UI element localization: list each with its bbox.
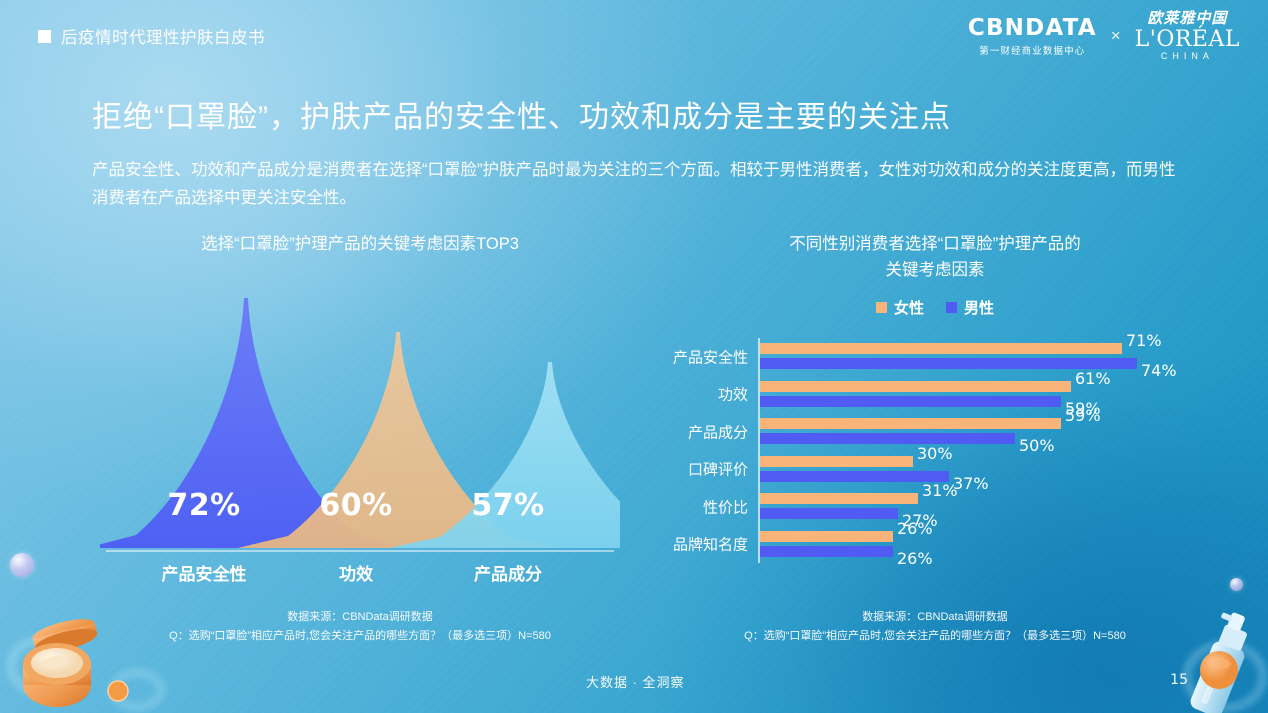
cbndata-wordmark: CBNDATA [968,15,1097,41]
horizontal-bar-chart: 产品安全性 71% 74% 功效 61% 59% 产品成分 59% 50% [655,338,1215,563]
bar-male-5: 26% [760,546,893,557]
left-chart-title: 选择“口罩脸”护理产品的关键考虑因素TOP3 [70,232,650,258]
bar-category-label: 产品成分 [688,421,748,442]
chart-legend: 女性 男性 [655,297,1215,318]
bar-group-1: 功效 61% 59% [758,376,1215,414]
funnel-label-2: 功效 [339,560,373,585]
legend-swatch-female [876,302,887,313]
bar-group-5: 品牌知名度 26% 26% [758,526,1215,564]
cbndata-logo: CBNDATA 第一财经商业数据中心 [968,15,1097,57]
bubble-decoration-right [1230,578,1243,591]
document-title-label: 后疫情时代理性护肤白皮书 [61,24,265,48]
bar-value-female-2: 59% [1065,406,1101,425]
legend-swatch-male [946,302,957,313]
slide-lede-paragraph: 产品安全性、功效和产品成分是消费者在选择“口罩脸”护肤产品时最为关注的三个方面。… [92,156,1182,212]
bar-group-2: 产品成分 59% 50% [758,413,1215,451]
left-source-line2: Q：选购“口罩脸”相应产品时,您会关注产品的哪些方面？（最多选三项）N=580 [70,627,650,646]
legend-label-female: 女性 [894,297,924,318]
brand-logos: CBNDATA 第一财经商业数据中心 × 欧莱雅中国 L'ORÉAL CHINA [968,11,1240,61]
loreal-region-label: CHINA [1135,52,1240,61]
bar-value-male-5: 26% [897,549,933,568]
funnel-baseline [106,550,614,552]
bar-male-4: 27% [760,508,898,519]
right-chart-title-line1: 不同性别消费者选择“口罩脸”护理产品的 [655,232,1215,258]
document-title: 后疫情时代理性护肤白皮书 [38,24,265,48]
bar-female-1: 61% [760,381,1071,392]
soft-ring-decoration-left-2 [108,668,166,712]
bar-female-0: 71% [760,343,1122,354]
cbndata-subtitle: 第一财经商业数据中心 [968,43,1097,57]
right-chart-panel: 不同性别消费者选择“口罩脸”护理产品的 关键考虑因素 女性 男性 产品安全性 7… [655,232,1215,642]
slide-headline: 拒绝“口罩脸”，护肤产品的安全性、功效和成分是主要的关注点 [92,92,1192,136]
right-chart-title: 不同性别消费者选择“口罩脸”护理产品的 关键考虑因素 [655,232,1215,283]
page-number: 15 [1170,672,1188,688]
brand-separator-icon: × [1111,26,1121,46]
bar-value-female-3: 30% [917,444,953,463]
funnel-label-3: 产品成分 [474,560,542,585]
funnel-label-1: 产品安全性 [162,560,247,585]
page-header: 后疫情时代理性护肤白皮书 CBNDATA 第一财经商业数据中心 × 欧莱雅中国 … [0,0,1268,72]
bar-male-3: 37% [760,471,949,482]
legend-label-male: 男性 [964,297,994,318]
bar-category-label: 产品安全性 [673,346,748,367]
bar-male-1: 59% [760,396,1061,407]
right-chart-title-line2: 关键考虑因素 [655,258,1215,284]
bar-value-female-0: 71% [1126,331,1162,350]
bar-female-2: 59% [760,418,1061,429]
left-source-line1: 数据来源：CBNData调研数据 [70,608,650,627]
right-source-line2: Q：选购“口罩脸”相应产品时,您会关注产品的哪些方面？（最多选三项）N=580 [655,627,1215,646]
bar-category-label: 口碑评价 [688,459,748,480]
bar-male-0: 74% [760,358,1137,369]
bar-female-3: 30% [760,456,913,467]
right-chart-source: 数据来源：CBNData调研数据 Q：选购“口罩脸”相应产品时,您会关注产品的哪… [655,608,1215,647]
square-bullet-icon [38,30,51,43]
bar-female-4: 31% [760,493,918,504]
bar-category-label: 性价比 [703,496,748,517]
funnel-value-3: 57% [471,488,544,523]
loreal-chinese-name: 欧莱雅中国 [1135,11,1240,27]
funnel-value-2: 60% [319,488,392,523]
bar-category-label: 品牌知名度 [673,534,748,555]
bar-male-2: 50% [760,433,1015,444]
bar-category-label: 功效 [718,384,748,405]
funnel-chart: 72% 60% 57% 产品安全性 功效 产品成分 [100,292,620,552]
soft-ring-decoration-right [1182,640,1268,713]
legend-item-female[interactable]: 女性 [876,297,924,318]
loreal-wordmark: L'ORÉAL [1135,28,1240,51]
bubble-decoration-left [10,553,34,577]
bar-value-female-5: 26% [897,519,933,538]
bar-female-5: 26% [760,531,893,542]
bar-group-0: 产品安全性 71% 74% [758,338,1215,376]
bar-group-4: 性价比 31% 27% [758,488,1215,526]
footer-tagline: 大数据 · 全洞察 [586,672,685,691]
legend-item-male[interactable]: 男性 [946,297,994,318]
soft-ring-decoration-left [6,635,76,697]
left-chart-source: 数据来源：CBNData调研数据 Q：选购“口罩脸”相应产品时,您会关注产品的哪… [70,608,650,647]
right-source-line1: 数据来源：CBNData调研数据 [655,608,1215,627]
left-chart-panel: 选择“口罩脸”护理产品的关键考虑因素TOP3 72% 6 [70,232,650,642]
bar-value-female-1: 61% [1075,369,1111,388]
bar-group-3: 口碑评价 30% 37% [758,451,1215,489]
funnel-value-1: 72% [167,488,240,523]
bar-value-female-4: 31% [922,481,958,500]
loreal-logo: 欧莱雅中国 L'ORÉAL CHINA [1135,11,1240,61]
